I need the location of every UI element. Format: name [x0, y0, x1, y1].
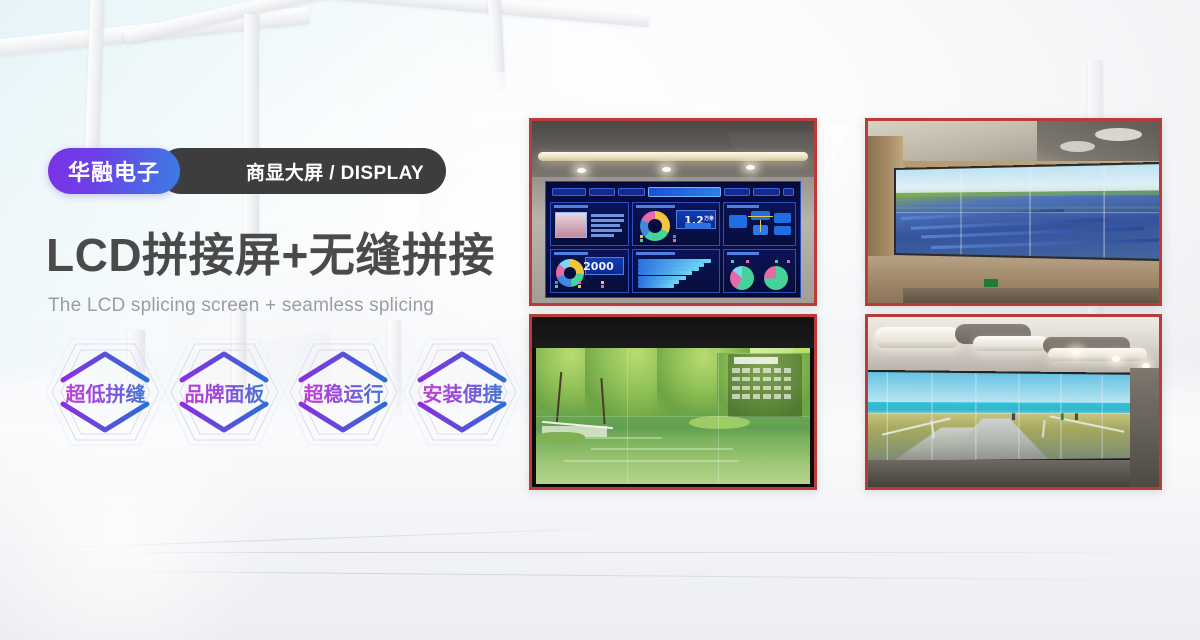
wall-right — [1130, 368, 1159, 487]
legend-dot — [578, 285, 581, 288]
card-title-bar — [727, 252, 759, 255]
calendar-cell — [732, 377, 739, 381]
gallery-photo-beach-boardwalk-video-wall[interactable] — [865, 314, 1162, 490]
calendar-cell — [774, 386, 781, 390]
dashboard-card-pie-charts — [723, 249, 796, 293]
photo-control-room-dashboard: 1.2 万条 — [532, 121, 814, 303]
calendar-cell — [732, 368, 739, 372]
dashboard-tab — [618, 188, 645, 196]
card-text-line — [591, 234, 614, 237]
feature-list: 超低拼缝 品牌面板 超稳运行 — [46, 336, 522, 448]
feature-label: 超低拼缝 — [66, 378, 146, 407]
calendar-cell — [753, 394, 760, 398]
flow-node — [729, 215, 747, 228]
dashboard-header — [550, 186, 797, 199]
water-reflection — [591, 448, 733, 450]
card-title-bar — [554, 205, 589, 208]
dashboard-tab — [753, 188, 780, 196]
dashboard-row-top: 1.2 万条 — [550, 202, 797, 246]
gallery-photo-control-room-dashboard[interactable]: 1.2 万条 — [529, 118, 817, 306]
legend-dot — [555, 285, 558, 288]
card-text-line — [591, 229, 623, 232]
dashboard-card-bar-chart — [632, 249, 721, 293]
calendar-cell — [784, 377, 791, 381]
bezel-seam — [536, 416, 810, 417]
cove-light — [538, 152, 809, 161]
calendar-cell — [742, 368, 749, 372]
feature-hex-2: 品牌面板 — [165, 336, 284, 448]
calendar-cell — [763, 394, 770, 398]
page-subtitle: The LCD splicing screen + seamless splic… — [48, 295, 434, 317]
floor — [903, 288, 1159, 303]
legend-dot — [731, 260, 734, 263]
calendar-cell — [784, 368, 791, 372]
card-text-line — [591, 224, 620, 227]
banner-copy-block: 商显大屏 / DISPLAY 华融电子 LCD拼接屏+无缝拼接 The LCD … — [0, 0, 530, 640]
exit-sign-icon — [984, 279, 998, 287]
calendar-cell — [753, 368, 760, 372]
calendar-cell — [774, 394, 781, 398]
legend-dot — [601, 285, 604, 288]
calendar-cell — [742, 377, 749, 381]
dashboard-tab — [724, 188, 751, 196]
dashboard-tab — [552, 188, 586, 196]
calendar-overlay — [728, 354, 802, 417]
donut-hole — [564, 267, 576, 279]
flow-link — [748, 216, 772, 217]
flow-node — [774, 213, 791, 223]
sky — [868, 372, 1153, 405]
card-title-bar — [727, 205, 759, 208]
card-text-line — [591, 219, 624, 222]
calendar-cell — [753, 386, 760, 390]
ceiling-coffer — [1048, 348, 1147, 362]
calendar-title — [734, 357, 778, 364]
card-text-line — [591, 214, 624, 217]
legend-dot — [673, 235, 676, 238]
bezel-seam — [975, 373, 976, 460]
video-wall-screen — [868, 370, 1153, 465]
ceiling-light — [1095, 128, 1142, 141]
calendar-cell — [774, 368, 781, 372]
dashboard-card-primary-metric: 1.2 万条 — [632, 202, 721, 246]
water-reflection — [564, 460, 739, 462]
legend-dot — [640, 235, 643, 238]
bezel-seam — [1060, 374, 1061, 459]
downlight — [746, 165, 755, 170]
calendar-cell — [753, 377, 760, 381]
calendar-cell — [784, 386, 791, 390]
video-wall-screen — [894, 162, 1159, 263]
legend-dot — [787, 260, 790, 263]
video-wall-screen — [536, 348, 810, 484]
dashboard-card-intro — [550, 202, 629, 246]
floor — [868, 460, 1159, 487]
dashboard-tab — [783, 188, 794, 196]
calendar-cell — [774, 377, 781, 381]
feature-label: 超稳运行 — [304, 378, 384, 407]
ceiling-coffer — [973, 336, 1049, 351]
calendar-cell — [742, 386, 749, 390]
card-thumbnail — [555, 212, 587, 238]
page-title: LCD拼接屏+无缝拼接 — [46, 232, 495, 278]
legend-dot — [578, 281, 581, 284]
card-title-bar — [636, 205, 675, 208]
calendar-cell — [742, 394, 749, 398]
metric-chip — [685, 223, 711, 229]
dashboard-tab — [589, 188, 616, 196]
flow-node — [774, 226, 791, 235]
gallery-photo-wood-room-solar-video-wall[interactable] — [865, 118, 1162, 306]
photo-beach-boardwalk-video-wall — [868, 317, 1159, 487]
feature-hex-3: 超稳运行 — [284, 336, 403, 448]
brand-badge: 华融电子 — [48, 148, 180, 194]
calendar-cell — [763, 386, 770, 390]
photo-wood-room-solar-video-wall — [868, 121, 1159, 303]
badge-row: 商显大屏 / DISPLAY 华融电子 — [48, 148, 180, 194]
calendar-cell — [784, 394, 791, 398]
feature-label: 品牌面板 — [185, 378, 265, 407]
metric-secondary-value: 2000 — [583, 260, 614, 273]
pie-chart — [764, 266, 788, 290]
pie-chart — [730, 266, 754, 290]
bar — [638, 284, 674, 288]
dashboard-card-flow-diagram — [723, 202, 796, 246]
dashboard-title-tab — [648, 187, 721, 197]
legend-dot — [746, 260, 749, 263]
calendar-cell — [732, 394, 739, 398]
metric-primary-unit: 万条 — [704, 215, 714, 222]
dashboard-row-bottom: 2000 — [550, 249, 797, 293]
calendar-cell — [763, 377, 770, 381]
bezel-seam — [1018, 374, 1019, 460]
ceiling-coffer — [874, 327, 961, 347]
feature-label: 安装便捷 — [423, 378, 503, 407]
feature-hex-4: 安装便捷 — [403, 336, 522, 448]
calendar-cell — [732, 386, 739, 390]
category-badge: 商显大屏 / DISPLAY — [158, 148, 446, 194]
gallery-photo-garden-pond-video-wall[interactable] — [529, 314, 817, 490]
card-title-bar — [636, 252, 675, 255]
bezel-seam — [887, 372, 888, 461]
legend-dot — [673, 239, 676, 242]
shrub — [689, 416, 749, 430]
shrub — [536, 432, 585, 444]
flow-link — [760, 220, 761, 232]
bar — [638, 271, 692, 275]
legend-dot — [555, 281, 558, 284]
legend-dot — [640, 239, 643, 242]
donut-hole — [648, 219, 662, 233]
bezel-seam — [932, 373, 933, 461]
feature-hex-1: 超低拼缝 — [46, 336, 165, 448]
top-bezel — [532, 317, 814, 348]
ceiling-light — [1060, 141, 1095, 152]
legend-dot — [775, 260, 778, 263]
dashboard-card-secondary-metric: 2000 — [550, 249, 629, 293]
dashboard-screen: 1.2 万条 — [545, 181, 802, 298]
card-title-bar — [554, 252, 589, 255]
gallery-grid: 1.2 万条 — [529, 118, 1169, 490]
downlight — [662, 167, 671, 172]
bezel-seam — [1101, 375, 1102, 459]
legend-dot — [601, 281, 604, 284]
photo-garden-pond-video-wall — [532, 317, 814, 487]
calendar-cell — [763, 368, 770, 372]
